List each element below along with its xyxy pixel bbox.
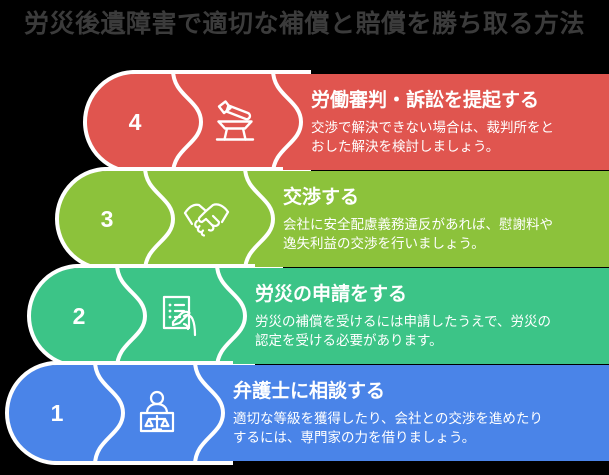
step-1-number: 1 [51,400,64,427]
handshake-icon [179,191,235,247]
step-row-1[interactable]: 1 弁護士に相談する [7,365,609,461]
step-2-title: 労災の申請をする [255,283,599,307]
step-2-body: 2 [29,268,609,364]
document-writing-hand-icon [151,288,207,344]
page-title: 労災後遺障害で適切な補償と賠償を勝ち取る方法 [0,0,609,58]
step-1-body: 1 弁護士に相談する [7,365,609,461]
step-4-description-line-2: おした解決を検討しましょう。 [311,137,599,157]
step-3-text-cell: 交渉する 会社に安全配慮義務違反があれば、慰謝料や 逸失利益の交渉を行いましょう… [257,171,609,267]
step-4-body: 4 労働審判・訴訟を提起する 交渉で解決できない場合は [85,74,609,170]
step-row-2[interactable]: 2 [29,268,609,364]
step-2-description: 労災の補償を受けるには申請したうえで、労災の 認定を受ける必要があります。 [255,312,599,351]
step-2-icon-cell [129,268,229,364]
step-2-description-line-2: 認定を受ける必要があります。 [255,331,599,351]
step-4-title: 労働審判・訴訟を提起する [311,89,599,113]
step-4-icon-cell [185,74,285,170]
step-3-description: 会社に安全配慮義務違反があれば、慰謝料や 逸失利益の交渉を行いましょう。 [283,215,599,254]
step-1-icon-cell [107,365,207,461]
step-1-number-cell: 1 [7,365,107,461]
step-3-description-line-2: 逸失利益の交渉を行いましょう。 [283,234,599,254]
step-3-number-cell: 3 [57,171,157,267]
step-row-4[interactable]: 4 労働審判・訴訟を提起する 交渉で解決できない場合は [85,74,609,170]
step-4-description-line-1: 交渉で解決できない場合は、裁判所をと [311,118,599,138]
step-4-number: 4 [129,109,142,136]
step-3-icon-cell [157,171,257,267]
step-4-text-cell: 労働審判・訴訟を提起する 交渉で解決できない場合は、裁判所をと おした解決を検討… [285,74,609,170]
step-row-3[interactable]: 3 交渉する [57,171,609,267]
step-3-number: 3 [101,206,114,233]
lawyer-scales-icon [129,385,185,441]
step-3-description-line-1: 会社に安全配慮義務違反があれば、慰謝料や [283,215,599,235]
step-1-text-cell: 弁護士に相談する 適切な等級を獲得したり、会社との交渉を進めたり するには、専門… [207,365,609,461]
steps-list: 4 労働審判・訴訟を提起する 交渉で解決できない場合は [0,70,609,475]
step-1-description-line-2: するには、専門家の力を借りましょう。 [233,428,599,448]
step-3-body: 3 交渉する [57,171,609,267]
step-4-description: 交渉で解決できない場合は、裁判所をと おした解決を検討しましょう。 [311,118,599,157]
step-4-number-cell: 4 [85,74,185,170]
step-2-number: 2 [73,303,86,330]
step-2-description-line-1: 労災の補償を受けるには申請したうえで、労災の [255,312,599,332]
step-1-description-line-1: 適切な等級を獲得したり、会社との交渉を進めたり [233,409,599,429]
step-3-title: 交渉する [283,186,599,210]
gavel-anvil-icon [207,94,263,150]
step-1-description: 適切な等級を獲得したり、会社との交渉を進めたり するには、専門家の力を借りましょ… [233,409,599,448]
step-2-number-cell: 2 [29,268,129,364]
step-1-title: 弁護士に相談する [233,380,599,404]
step-2-text-cell: 労災の申請をする 労災の補償を受けるには申請したうえで、労災の 認定を受ける必要… [229,268,609,364]
